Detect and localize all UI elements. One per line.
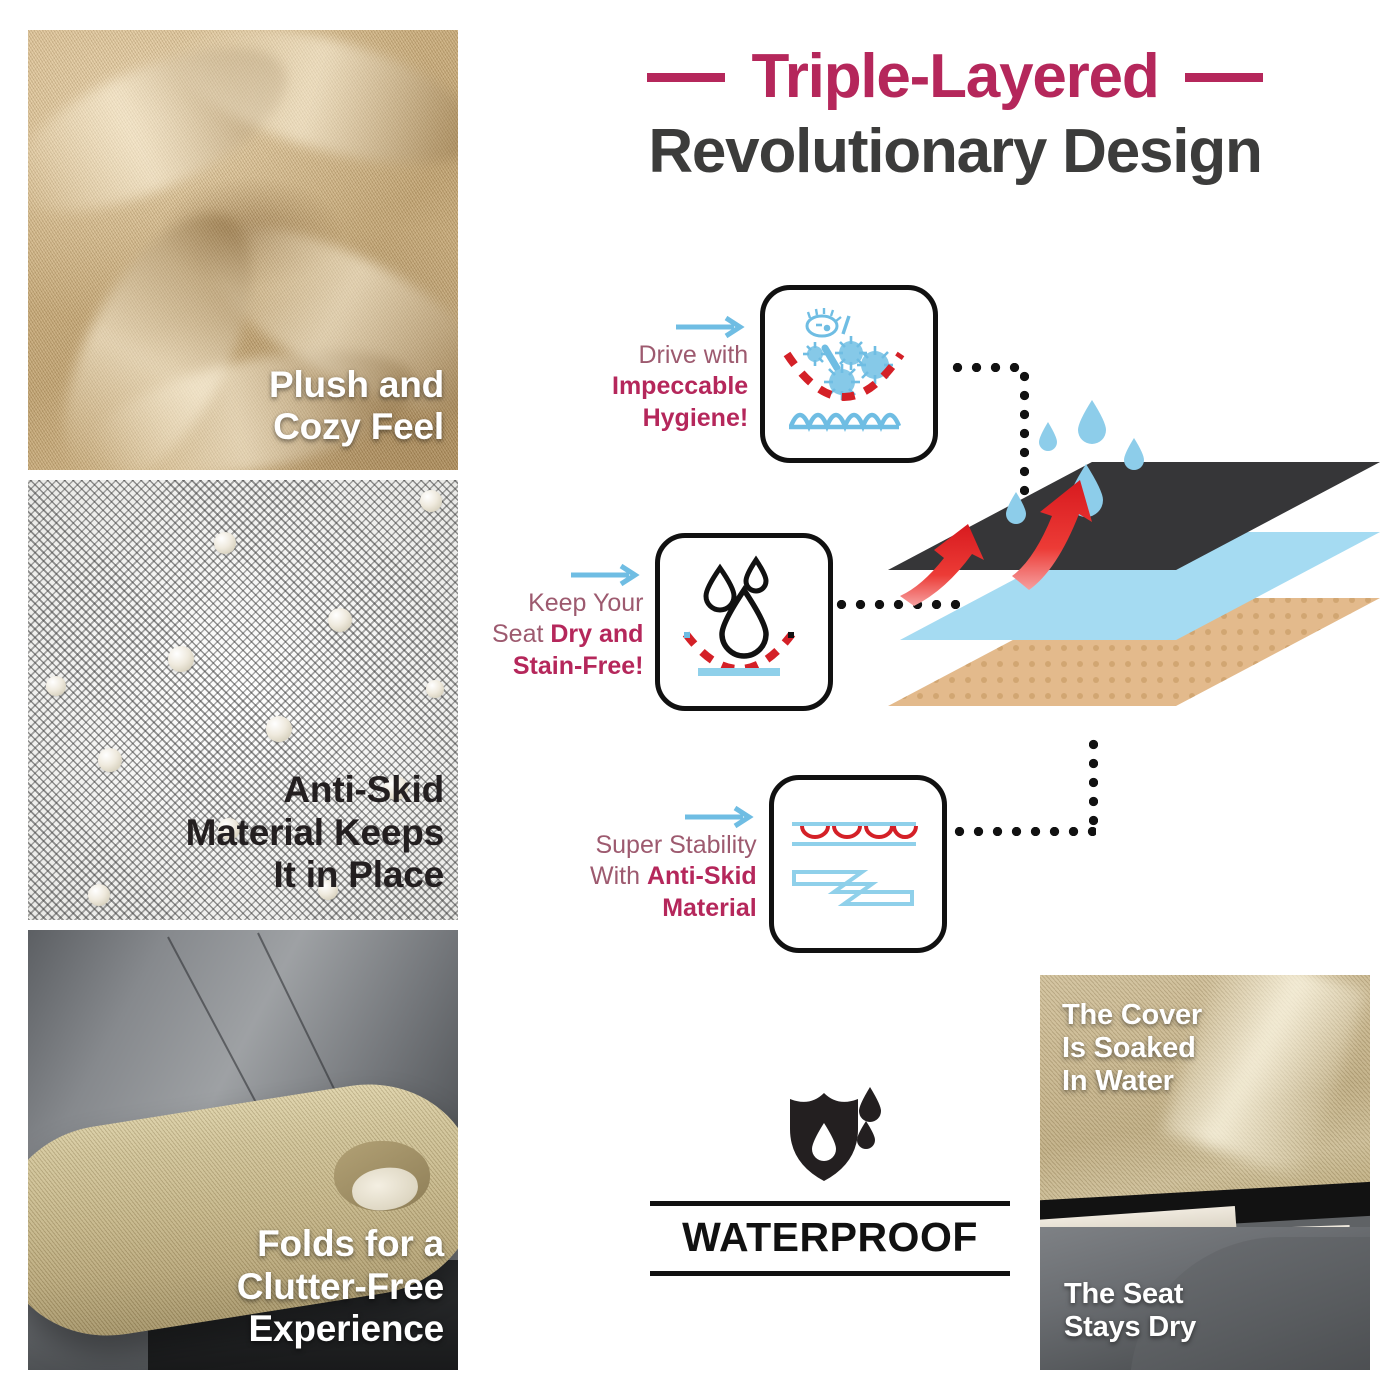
silicone-dot — [168, 646, 194, 672]
arrow-right-icon — [674, 314, 748, 340]
feature-row-dry-stain-free: Keep Your Seat Dry and Stain-Free! — [492, 533, 833, 711]
silicone-dot — [214, 532, 236, 554]
silicone-dot — [266, 716, 292, 742]
arrow-right-icon — [683, 804, 757, 830]
silicone-dot — [98, 748, 122, 772]
feature-label: Super Stability With Anti-Skid Material — [590, 830, 757, 925]
title-dash-left — [647, 73, 725, 82]
panel-caption: Folds for a Clutter-Free Experience — [237, 1223, 444, 1350]
arrow-right-icon — [569, 562, 643, 588]
infographic-root: Plush and Cozy Feel Anti-Skid Material K… — [0, 0, 1400, 1400]
waterproof-badge: WATERPROOF — [650, 1085, 1010, 1276]
silicone-dot — [420, 490, 442, 512]
badge-rule-bottom — [650, 1271, 1010, 1276]
water-drop-barrier-icon — [655, 533, 833, 711]
photo-panel-folded-cover: Folds for a Clutter-Free Experience — [28, 930, 458, 1370]
feature-label: Keep Your Seat Dry and Stain-Free! — [492, 588, 643, 683]
shield-waterdrop-icon — [766, 1085, 894, 1185]
page-title: Triple-Layered Revolutionary Design — [540, 46, 1370, 186]
panel-caption: Anti-Skid Material Keeps It in Place — [186, 769, 444, 896]
panel-caption: Plush and Cozy Feel — [269, 364, 444, 448]
panel-caption-bottom: The Seat Stays Dry — [1064, 1278, 1196, 1344]
waterproof-label: WATERPROOF — [650, 1206, 1010, 1271]
title-line-2: Revolutionary Design — [540, 118, 1370, 186]
photo-panel-plush-fabric: Plush and Cozy Feel — [28, 30, 458, 470]
feature-label: Drive with Impeccable Hygiene! — [612, 340, 748, 435]
feature-row-anti-skid: Super Stability With Anti-Skid Material — [590, 775, 947, 953]
title-line-1: Triple-Layered — [751, 46, 1158, 108]
panel-caption-top: The Cover Is Soaked In Water — [1062, 999, 1202, 1098]
silicone-dot — [426, 680, 444, 698]
photo-panel-anti-skid-backing: Anti-Skid Material Keeps It in Place — [28, 480, 458, 920]
anti-skid-layer-icon — [769, 775, 947, 953]
photo-panel-soak-test: The Cover Is Soaked In Water The Seat St… — [1040, 975, 1370, 1370]
silicone-dot — [88, 884, 110, 906]
silicone-dot — [46, 676, 66, 696]
title-dash-right — [1185, 73, 1263, 82]
triple-layer-stack — [880, 400, 1380, 780]
silicone-dot — [328, 608, 352, 632]
